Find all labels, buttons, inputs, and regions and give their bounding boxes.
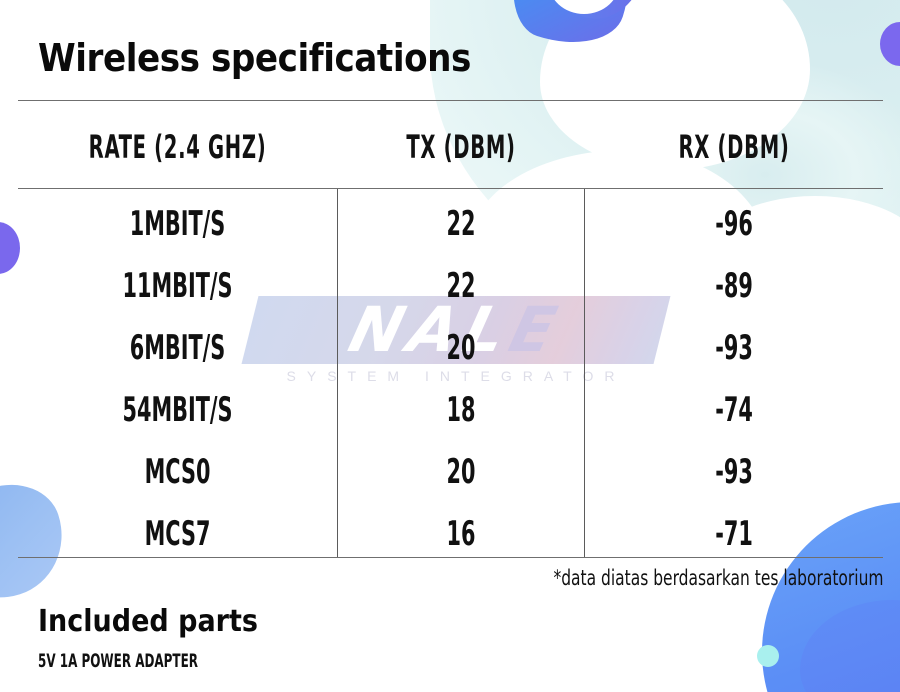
table-row: 18 [377,390,544,430]
table-rule-bottom [18,557,883,558]
table-row: MCS7 [69,514,286,554]
included-parts-title: Included parts [38,604,258,639]
table-row: 22 [377,204,544,244]
page-content: Wireless specifications RATE (2.4 GHZ) T… [0,0,900,692]
table-row: 16 [377,514,544,554]
table-row: 1MBIT/S [69,204,286,244]
included-parts-item: 5V 1A POWER ADAPTER [38,650,198,672]
wireless-specifications-page: NALE SYSTEM INTEGRATOR Wireless specific… [0,0,900,692]
table-row: 11MBIT/S [69,266,286,306]
table-row: -93 [633,452,836,492]
table-column-divider-1 [337,189,338,557]
table-row: 20 [377,328,544,368]
table-rule-header [18,188,883,189]
table-row: 6MBIT/S [69,328,286,368]
table-header-rx: RX (DBM) [633,128,836,166]
page-title: Wireless specifications [38,36,471,80]
table-row: -71 [633,514,836,554]
table-row: MCS0 [69,452,286,492]
table-row: -89 [633,266,836,306]
table-row: 54MBIT/S [69,390,286,430]
table-row: -74 [633,390,836,430]
table-row: 20 [377,452,544,492]
table-footnote: *data diatas berdasarkan tes laboratoriu… [553,566,883,590]
table-header-rate: RATE (2.4 GHZ) [69,128,286,166]
table-row: 22 [377,266,544,306]
table-row: -96 [633,204,836,244]
table-header-tx: TX (DBM) [377,128,544,166]
table-rule-top [18,100,883,101]
table-row: -93 [633,328,836,368]
table-column-divider-2 [584,189,585,557]
